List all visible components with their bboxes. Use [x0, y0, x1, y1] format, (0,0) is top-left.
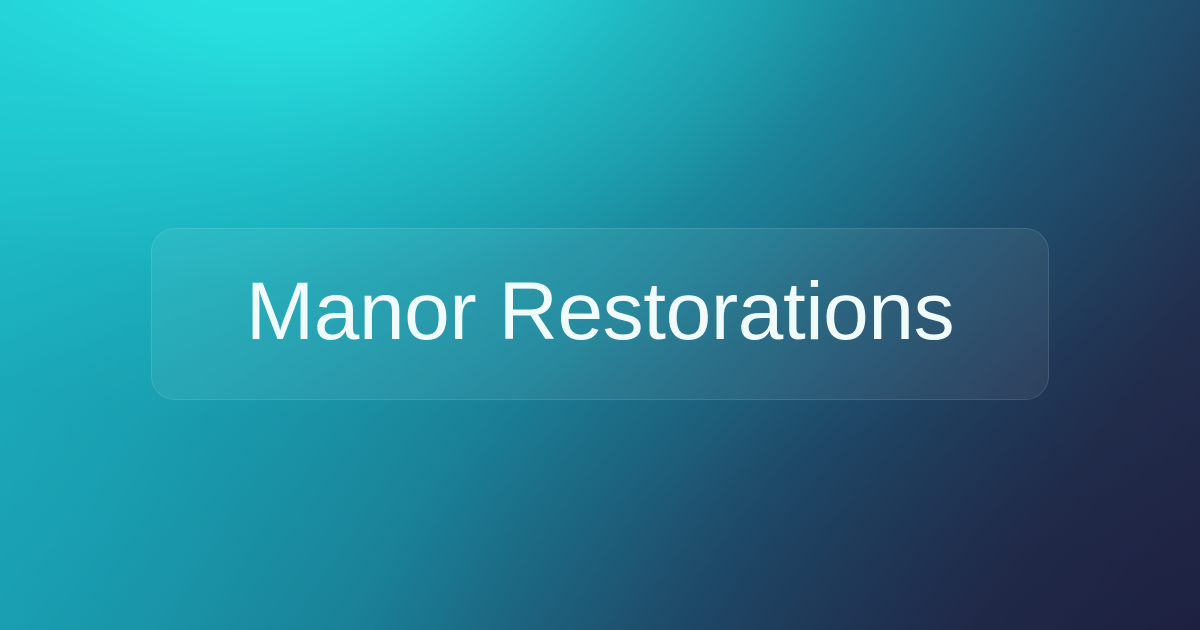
og-banner: Manor Restorations [0, 0, 1200, 630]
banner-title: Manor Restorations [246, 271, 954, 357]
title-card: Manor Restorations [151, 228, 1049, 400]
